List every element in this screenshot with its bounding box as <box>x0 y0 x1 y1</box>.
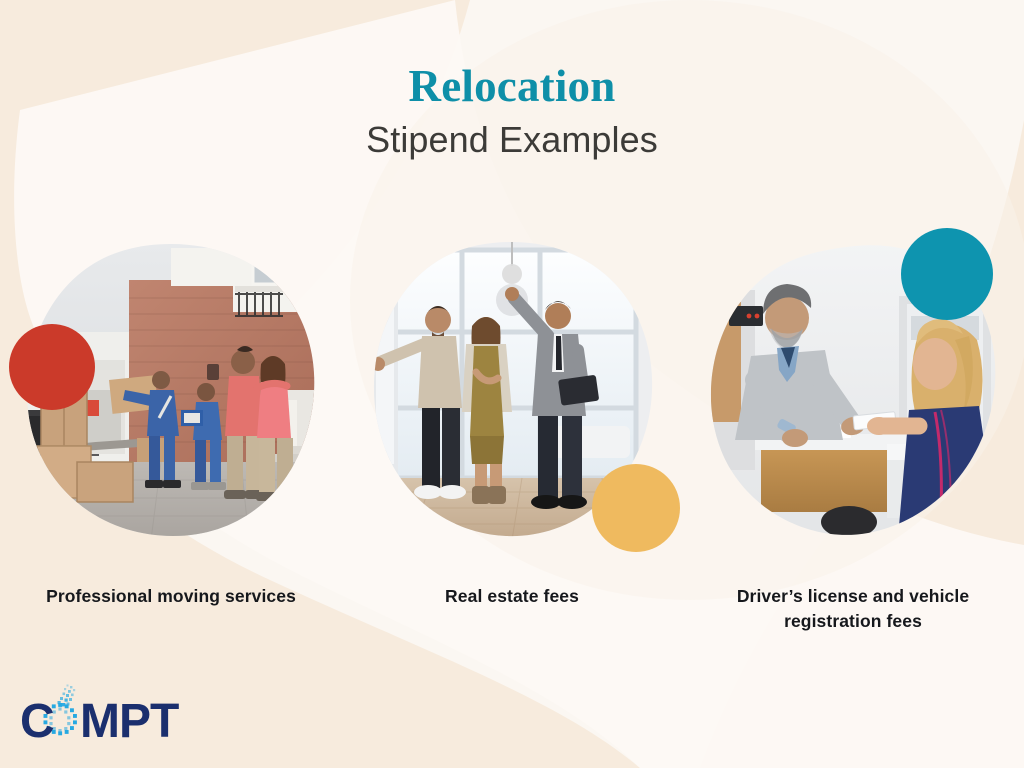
photo-frame-2 <box>362 240 662 540</box>
photo-frame-1 <box>21 240 321 540</box>
card-caption-3: Driver’s license and vehicle registratio… <box>683 584 1024 634</box>
card-caption-1: Professional moving services <box>1 584 342 609</box>
yellow-circle-accent <box>592 464 680 552</box>
red-circle-accent <box>9 324 95 410</box>
card-caption-2: Real estate fees <box>342 584 683 609</box>
teal-circle-accent <box>901 228 993 320</box>
photo-frame-3 <box>703 240 1003 540</box>
logo-letters-mpt: MPT <box>80 695 179 746</box>
slide-canvas: Relocation Stipend Examples <box>0 0 1024 768</box>
page-subtitle: Stipend Examples <box>0 117 1024 164</box>
header: Relocation Stipend Examples <box>0 62 1024 163</box>
card-real-estate-fees: Real estate fees <box>342 240 683 660</box>
page-title: Relocation <box>0 62 1024 111</box>
card-drivers-license-fees: Driver’s license and vehicle registratio… <box>683 240 1024 660</box>
logo-letter-c: C <box>20 695 55 746</box>
card-professional-moving-services: Professional moving services <box>1 240 342 660</box>
cards-row: Professional moving services <box>0 240 1024 660</box>
compt-logo[interactable]: C MPT COMPT <box>20 682 190 746</box>
